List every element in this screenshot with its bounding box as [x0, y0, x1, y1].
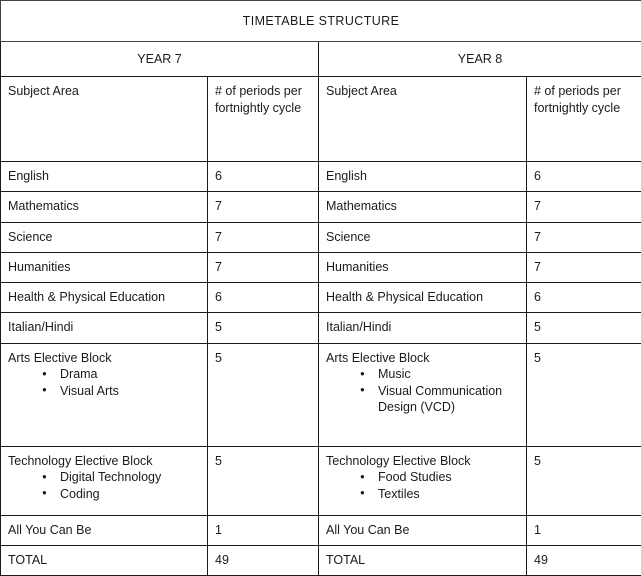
periods-cell-year7: 6 [208, 162, 319, 192]
total-label-year8: TOTAL [319, 545, 527, 575]
subject-cell-year8: All You Can Be [319, 515, 527, 545]
periods-cell-year8: 6 [527, 283, 641, 313]
elective-item: Textiles [360, 486, 519, 503]
column-header-periods-year8: # of periods per fortnightly cycle [527, 77, 641, 162]
table-row-technology-elective: Technology Elective Block Digital Techno… [1, 446, 641, 515]
elective-list-year7: Drama Visual Arts [8, 366, 200, 399]
elective-block-title: Technology Elective Block [326, 453, 519, 470]
elective-item: Drama [42, 366, 200, 383]
subject-cell-year8: Technology Elective Block Food Studies T… [319, 446, 527, 515]
periods-cell-year7: 7 [208, 252, 319, 282]
elective-item: Music [360, 366, 519, 383]
total-periods-year7: 49 [208, 545, 319, 575]
subject-cell-year8: Mathematics [319, 192, 527, 222]
table-row: Mathematics 7 Mathematics 7 [1, 192, 641, 222]
periods-cell-year7: 5 [208, 343, 319, 446]
subject-cell-year8: Humanities [319, 252, 527, 282]
periods-cell-year7: 5 [208, 313, 319, 343]
periods-cell-year8: 5 [527, 313, 641, 343]
subject-cell-year7: Health & Physical Education [1, 283, 208, 313]
elective-item: Visual Communication Design (VCD) [360, 383, 519, 416]
timetable-structure-table: TIMETABLE STRUCTURE YEAR 7 YEAR 8 Subjec… [0, 0, 641, 576]
periods-cell-year8: 6 [527, 162, 641, 192]
subject-cell-year7: English [1, 162, 208, 192]
page-title: TIMETABLE STRUCTURE [1, 1, 641, 42]
column-header-subject-area-year8: Subject Area [319, 77, 527, 162]
subject-cell-year7: Mathematics [1, 192, 208, 222]
elective-item: Food Studies [360, 469, 519, 486]
subject-cell-year7: Italian/Hindi [1, 313, 208, 343]
table-row: All You Can Be 1 All You Can Be 1 [1, 515, 641, 545]
elective-list-year8: Music Visual Communication Design (VCD) [326, 366, 519, 416]
column-header-row: Subject Area # of periods per fortnightl… [1, 77, 641, 162]
periods-cell-year8: 5 [527, 446, 641, 515]
periods-cell-year8: 7 [527, 252, 641, 282]
elective-item: Visual Arts [42, 383, 200, 400]
table-row-total: TOTAL 49 TOTAL 49 [1, 545, 641, 575]
elective-item: Digital Technology [42, 469, 200, 486]
subject-cell-year8: Health & Physical Education [319, 283, 527, 313]
year8-banner: YEAR 8 [319, 42, 641, 77]
subject-cell-year8: Italian/Hindi [319, 313, 527, 343]
subject-cell-year8: English [319, 162, 527, 192]
subject-cell-year7: Humanities [1, 252, 208, 282]
periods-cell-year8: 5 [527, 343, 641, 446]
elective-list-year7: Digital Technology Coding [8, 469, 200, 502]
subject-cell-year7: Technology Elective Block Digital Techno… [1, 446, 208, 515]
periods-cell-year7: 6 [208, 283, 319, 313]
elective-block-title: Arts Elective Block [326, 350, 519, 367]
periods-cell-year7: 7 [208, 222, 319, 252]
year7-banner: YEAR 7 [1, 42, 319, 77]
periods-cell-year7: 5 [208, 446, 319, 515]
year-banner-row: YEAR 7 YEAR 8 [1, 42, 641, 77]
subject-cell-year7: Arts Elective Block Drama Visual Arts [1, 343, 208, 446]
subject-cell-year7: Science [1, 222, 208, 252]
elective-block-title: Arts Elective Block [8, 350, 200, 367]
elective-list-year8: Food Studies Textiles [326, 469, 519, 502]
periods-cell-year7: 1 [208, 515, 319, 545]
periods-cell-year8: 1 [527, 515, 641, 545]
column-header-periods-year7: # of periods per fortnightly cycle [208, 77, 319, 162]
subject-cell-year8: Science [319, 222, 527, 252]
table-row: Italian/Hindi 5 Italian/Hindi 5 [1, 313, 641, 343]
periods-cell-year8: 7 [527, 192, 641, 222]
table-row: English 6 English 6 [1, 162, 641, 192]
title-row: TIMETABLE STRUCTURE [1, 1, 641, 42]
table-row: Humanities 7 Humanities 7 [1, 252, 641, 282]
subject-cell-year7: All You Can Be [1, 515, 208, 545]
table-row: Health & Physical Education 6 Health & P… [1, 283, 641, 313]
table-row: Science 7 Science 7 [1, 222, 641, 252]
total-periods-year8: 49 [527, 545, 641, 575]
total-label-year7: TOTAL [1, 545, 208, 575]
elective-item: Coding [42, 486, 200, 503]
periods-cell-year7: 7 [208, 192, 319, 222]
column-header-subject-area-year7: Subject Area [1, 77, 208, 162]
elective-block-title: Technology Elective Block [8, 453, 200, 470]
subject-cell-year8: Arts Elective Block Music Visual Communi… [319, 343, 527, 446]
periods-cell-year8: 7 [527, 222, 641, 252]
table-row-arts-elective: Arts Elective Block Drama Visual Arts 5 … [1, 343, 641, 446]
